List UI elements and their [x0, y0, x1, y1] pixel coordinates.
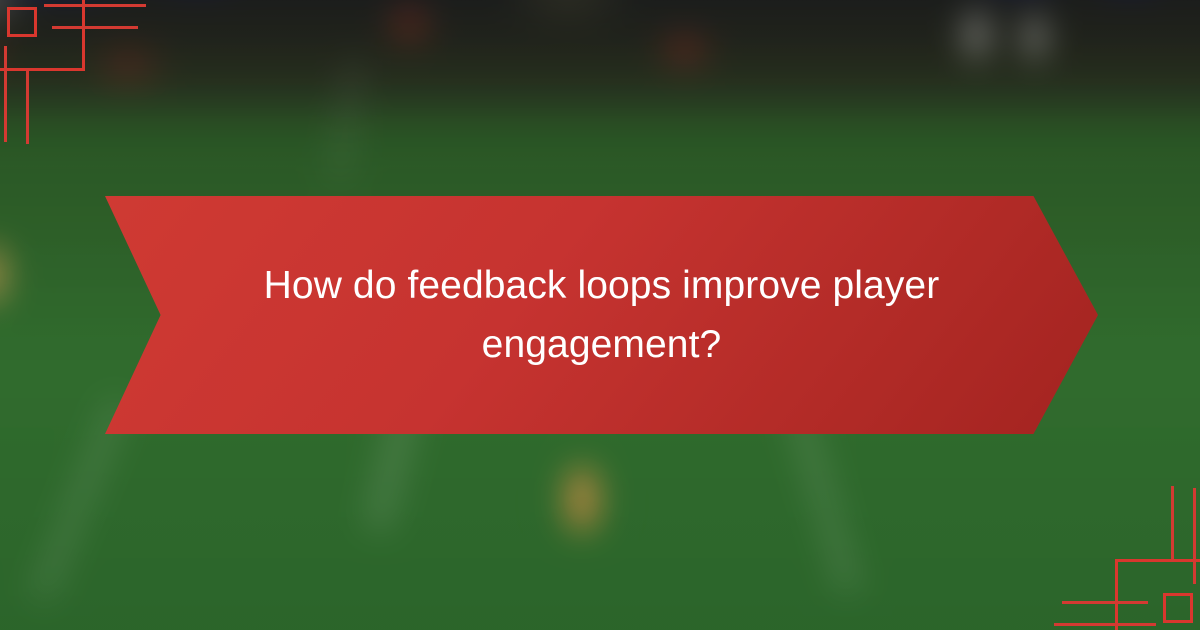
corner-decoration-top-left	[0, 0, 190, 175]
corner-horizontal-rule-2	[52, 26, 138, 29]
banner-title: How do feedback loops improve player eng…	[255, 256, 948, 375]
corner-bracket-icon	[1115, 559, 1200, 630]
question-banner: How do feedback loops improve player eng…	[105, 196, 1098, 434]
corner-decoration-bottom-right	[1010, 455, 1200, 630]
corner-vertical-rule-2	[26, 68, 29, 144]
corner-horizontal-rule-1	[1054, 623, 1156, 626]
poster-canvas: How do feedback loops improve player eng…	[0, 0, 1200, 630]
corner-vertical-rule-2	[1171, 486, 1174, 562]
corner-horizontal-rule-1	[44, 4, 146, 7]
corner-horizontal-rule-2	[1062, 601, 1148, 604]
corner-bracket-icon	[0, 0, 85, 71]
corner-vertical-rule-1	[4, 46, 7, 142]
corner-vertical-rule-1	[1193, 488, 1196, 584]
